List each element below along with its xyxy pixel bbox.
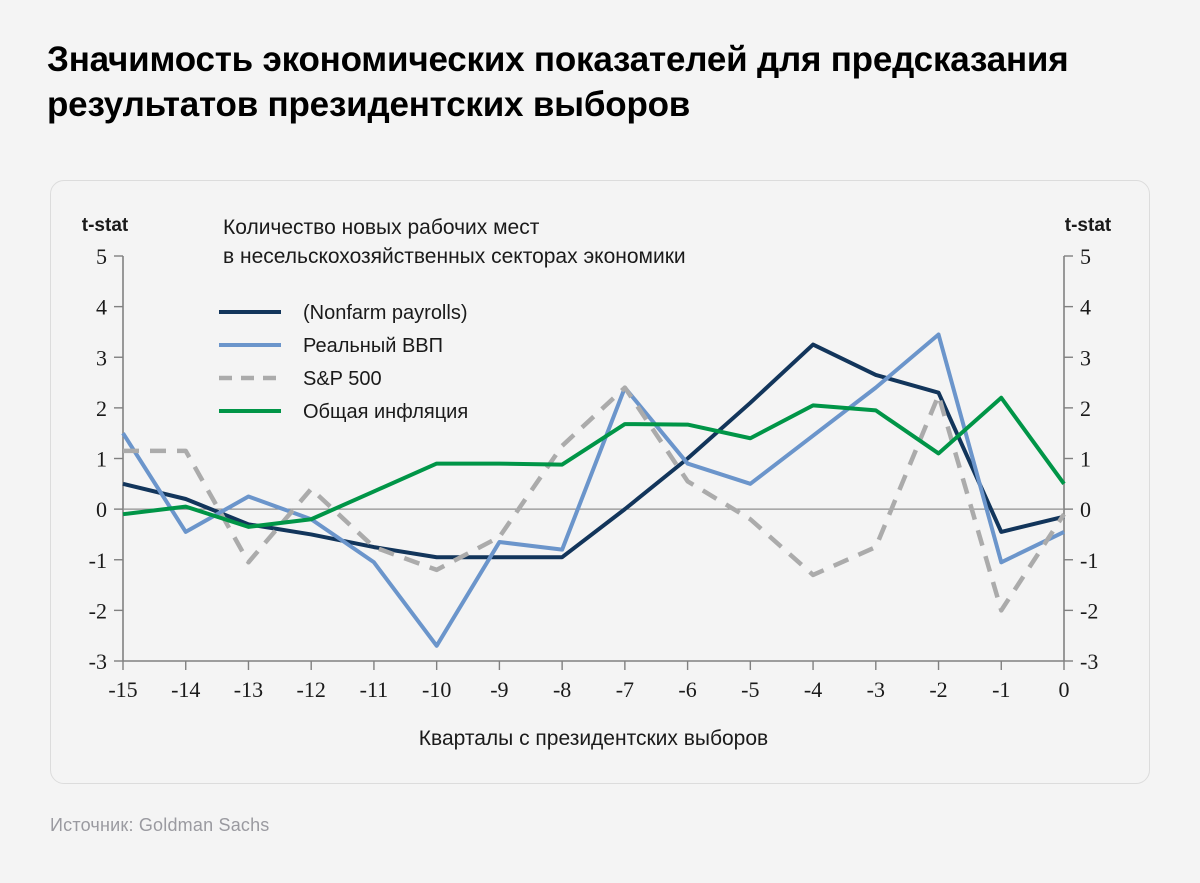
y-tick-label-right: 2 (1080, 396, 1091, 421)
x-tick-label: -10 (422, 677, 451, 702)
series-line-2 (123, 388, 1064, 611)
x-tick-label: -8 (553, 677, 571, 702)
y-tick-label-left: 0 (96, 497, 107, 522)
x-tick-label: -11 (360, 677, 389, 702)
x-tick-label: -4 (804, 677, 822, 702)
y-tick-label-right: 1 (1080, 447, 1091, 472)
legend-label-3: Общая инфляция (303, 401, 468, 423)
x-tick-label: -5 (741, 677, 759, 702)
x-tick-label: -6 (678, 677, 696, 702)
y-tick-label-left: 4 (96, 295, 107, 320)
y-tick-label-left: 1 (96, 447, 107, 472)
x-tick-label: -2 (929, 677, 947, 702)
x-tick-label: 0 (1059, 677, 1070, 702)
y-tick-label-left: 3 (96, 345, 107, 370)
line-chart: 554433221100-1-1-2-2-3-3-15-14-13-12-11-… (51, 181, 1151, 785)
page-root: Значимость экономических показателей для… (0, 0, 1200, 883)
x-axis-title: Кварталы с президентских выборов (419, 727, 768, 750)
chart-inner-title-line2: в несельскохозяйственных секторах эконом… (223, 245, 686, 268)
legend-label-0: (Nonfarm payrolls) (303, 302, 467, 324)
y-tick-label-right: 3 (1080, 345, 1091, 370)
y-tick-label-left: 5 (96, 244, 107, 269)
y-tick-label-right: 5 (1080, 244, 1091, 269)
chart-card: 554433221100-1-1-2-2-3-3-15-14-13-12-11-… (50, 180, 1150, 784)
y-tick-label-right: -1 (1080, 548, 1098, 573)
y-tick-label-left: 2 (96, 396, 107, 421)
source-note: Источник: Goldman Sachs (50, 815, 270, 836)
x-tick-label: -13 (234, 677, 263, 702)
x-tick-label: -15 (108, 677, 137, 702)
y-tick-label-left: -1 (89, 548, 107, 573)
page-title: Значимость экономических показателей для… (47, 38, 1167, 128)
chart-plot-area: 554433221100-1-1-2-2-3-3-15-14-13-12-11-… (51, 181, 1149, 783)
legend-label-2: S&P 500 (303, 368, 382, 390)
legend-label-1: Реальный ВВП (303, 335, 443, 357)
y-tick-label-right: 4 (1080, 295, 1091, 320)
y-tick-label-right: 0 (1080, 497, 1091, 522)
y-axis-caption-left: t-stat (82, 215, 129, 236)
x-tick-label: -14 (171, 677, 200, 702)
y-tick-label-left: -3 (89, 649, 107, 674)
y-tick-label-right: -3 (1080, 649, 1098, 674)
x-tick-label: -12 (297, 677, 326, 702)
y-axis-caption-right: t-stat (1065, 215, 1112, 236)
x-tick-label: -9 (490, 677, 508, 702)
y-tick-label-left: -2 (89, 598, 107, 623)
chart-inner-title-line1: Количество новых рабочих мест (223, 216, 540, 239)
x-tick-label: -1 (992, 677, 1010, 702)
series-line-1 (123, 334, 1064, 645)
x-tick-label: -3 (867, 677, 885, 702)
x-tick-label: -7 (616, 677, 634, 702)
y-tick-label-right: -2 (1080, 598, 1098, 623)
